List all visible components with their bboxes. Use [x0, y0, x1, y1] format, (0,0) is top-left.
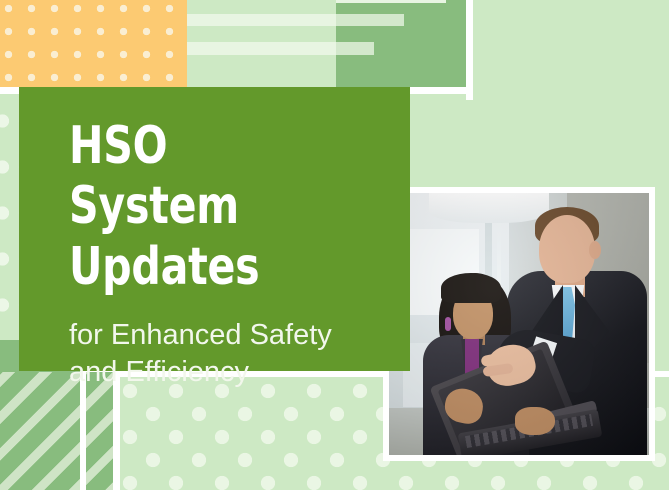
title-card-body: HSO System Updates for Enhanced Safety a…: [69, 116, 389, 391]
medium-block-stripe-1: [336, 14, 404, 26]
title-card: HSO System Updates for Enhanced Safety a…: [19, 87, 410, 371]
photo-vignette: [389, 193, 649, 455]
medium-block-stripe-0: [336, 0, 446, 3]
poster-canvas: HSO System Updates for Enhanced Safety a…: [0, 0, 669, 490]
gutter-vertical-right: [466, 0, 473, 100]
office-photo: [389, 193, 649, 455]
medium-block-stripe-2: [336, 42, 374, 55]
page-title: HSO System Updates: [69, 116, 351, 297]
yellow-dotted-block: [0, 0, 187, 87]
photo-content: [389, 193, 649, 455]
page-subtitle: for Enhanced Safety and Efficiency: [69, 317, 389, 391]
